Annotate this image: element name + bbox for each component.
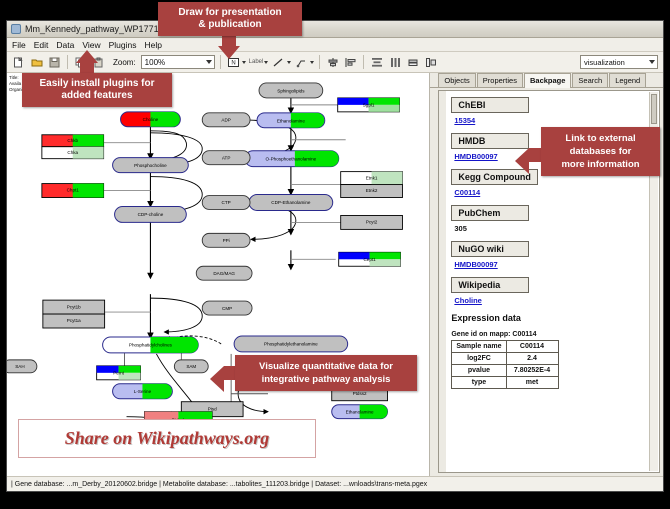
nugo-link[interactable]: HMDB00097 xyxy=(454,260,659,269)
same-width-icon[interactable] xyxy=(387,55,402,70)
node-ctp[interactable]: CTP xyxy=(202,196,250,210)
callout-draw-line1: Draw for presentation xyxy=(164,7,296,19)
row-value: met xyxy=(506,377,558,389)
row-label: log2FC xyxy=(452,353,506,365)
row-value: C00114 xyxy=(506,341,558,353)
pubchem-value: 305 xyxy=(454,224,659,233)
table-row: type met xyxy=(452,377,558,389)
row-value: 2.4 xyxy=(506,353,558,365)
node-label: Ethanolamine xyxy=(277,119,305,124)
gene-label: Etnk2 xyxy=(366,188,378,193)
gene-cept1[interactable]: Cept1 xyxy=(339,252,401,266)
node-choline-top[interactable]: Choline xyxy=(121,112,181,127)
callout-draw-line2: & publication xyxy=(164,19,296,31)
scrollbar-thumb[interactable] xyxy=(651,94,657,124)
node-label: Phosphocholine xyxy=(134,163,167,168)
row-label: type xyxy=(452,377,506,389)
node-label: Sphingolipids xyxy=(277,89,305,94)
node-sphingolipids[interactable]: Sphingolipids xyxy=(259,83,323,98)
node-label: SAM xyxy=(186,364,196,369)
hmdb-header: HMDB xyxy=(451,133,529,149)
callout-links-arrow-left xyxy=(515,148,529,174)
node-label: Choline xyxy=(143,117,159,122)
zoom-label: Zoom: xyxy=(113,58,136,67)
node-cdp-choline[interactable]: CDP-choline xyxy=(115,206,187,222)
callout-plugins-arrow-up xyxy=(76,50,98,63)
gene-label: Chkb xyxy=(67,138,78,143)
gene-etnk1[interactable]: Etnk1 xyxy=(341,172,403,185)
pathway-canvas[interactable]: Title: Availa Organi xyxy=(7,73,430,476)
gene-sgpl1[interactable]: Sgpl1 xyxy=(338,98,400,112)
line-icon[interactable] xyxy=(271,55,286,70)
gene-label: Chka xyxy=(67,150,78,155)
callout-links-line3: more information xyxy=(547,158,654,171)
node-ethanolamine-top[interactable]: Ethanolamine xyxy=(257,113,325,128)
gene-label: Pcyt2 xyxy=(366,220,378,225)
stack-icon[interactable] xyxy=(405,55,420,70)
gene-label: Chpt1 xyxy=(67,188,80,193)
distribute-vertical-icon[interactable] xyxy=(369,55,384,70)
gene-pcyt2[interactable]: Pcyt2 xyxy=(341,215,403,229)
zoom-combo[interactable]: 100% xyxy=(141,55,215,69)
menubar: File Edit Data View Plugins Help xyxy=(7,38,663,52)
node-label: L-Serine xyxy=(134,389,152,394)
node-label: DAG/MAG xyxy=(213,271,235,276)
group-icon[interactable] xyxy=(423,55,438,70)
gene-label: Pemt xyxy=(113,371,124,376)
row-label: pvalue xyxy=(452,365,506,377)
gene-chkb[interactable]: Chkb xyxy=(42,135,104,147)
node-label: O-Phosphoethanolamine xyxy=(266,156,317,161)
tab-search[interactable]: Search xyxy=(572,73,608,87)
menu-view[interactable]: View xyxy=(82,40,100,50)
chevron-down-icon xyxy=(264,61,268,64)
chevron-down-icon xyxy=(206,60,212,64)
gene-pcyt1b[interactable]: Pcyt1b xyxy=(43,300,105,314)
nugo-header: NuGO wiki xyxy=(451,241,529,257)
gene-label: Pcyt1b xyxy=(67,304,81,309)
callout-draw-arrow-down xyxy=(218,46,240,59)
tab-objects[interactable]: Objects xyxy=(438,73,475,87)
node-phosphocholine[interactable]: Phosphocholine xyxy=(113,158,189,173)
node-label: Phosphatidylcholines xyxy=(129,343,173,348)
node-label: SAH xyxy=(15,364,24,369)
menu-plugins[interactable]: Plugins xyxy=(109,40,137,50)
gene-label: Etnk1 xyxy=(366,175,378,180)
node-adp[interactable]: ADP xyxy=(202,113,250,127)
node-sah[interactable]: SAH xyxy=(7,360,37,373)
label-button[interactable]: Label xyxy=(249,59,264,65)
tab-backpage[interactable]: Backpage xyxy=(524,73,571,88)
open-folder-icon[interactable] xyxy=(29,55,44,70)
menu-help[interactable]: Help xyxy=(145,40,162,50)
node-label: Phosphatidylethanolamine xyxy=(264,342,318,347)
node-o-phosphoethanolamine[interactable]: O-Phosphoethanolamine xyxy=(245,151,339,167)
gene-label: Pcyt1a xyxy=(67,318,81,323)
node-label: ATP xyxy=(222,155,231,160)
gene-chka[interactable]: Chka xyxy=(42,147,104,159)
callout-plugins-line1: Easily install plugins for xyxy=(28,78,166,90)
callout-visualize-line1: Visualize quantitative data for xyxy=(241,360,411,373)
node-l-serine-left[interactable]: L-Serine xyxy=(113,384,173,399)
line-dropdown[interactable] xyxy=(271,55,291,70)
row-value: 7.80252E-4 xyxy=(506,365,558,377)
panel-tabs: Objects Properties Backpage Search Legen… xyxy=(430,73,663,88)
expression-data-title: Expression data xyxy=(451,313,659,323)
node-ppi[interactable]: PPi xyxy=(202,233,250,247)
chevron-down-icon xyxy=(649,60,655,64)
gene-etnk2[interactable]: Etnk2 xyxy=(341,185,403,198)
zoom-value: 100% xyxy=(145,58,165,67)
gene-pemt[interactable]: Pemt xyxy=(97,366,141,380)
expression-table: Sample name C00114 log2FC 2.4 pvalue 7.8… xyxy=(451,340,558,389)
toolbar-separator xyxy=(319,55,320,69)
node-phosphatidylcholines[interactable]: Phosphatidylcholines xyxy=(103,337,199,353)
table-row: Sample name C00114 xyxy=(452,341,558,353)
node-cmp[interactable]: CMP xyxy=(202,301,252,315)
svg-text:N: N xyxy=(231,60,235,66)
tab-legend[interactable]: Legend xyxy=(609,73,646,87)
toolbar-separator xyxy=(67,55,68,69)
callout-links-line2: databases for xyxy=(547,145,654,158)
toolbar-separator xyxy=(363,55,364,69)
gene-label: Ptdss2 xyxy=(353,391,367,396)
chevron-down-icon xyxy=(242,61,246,64)
callout-plugins: Easily install plugins for added feature… xyxy=(22,73,172,107)
chevron-down-icon xyxy=(310,61,314,64)
panel-left-gutter xyxy=(439,91,446,472)
interaction-dropdown[interactable] xyxy=(294,55,314,70)
row-label: Sample name xyxy=(452,341,506,353)
node-label: CTP xyxy=(222,200,231,205)
wikipedia-header: Wikipedia xyxy=(451,277,529,293)
gene-pcyt1a[interactable]: Pcyt1a xyxy=(43,314,105,328)
node-label: ADP xyxy=(221,118,230,123)
node-ethanolamine-bottom[interactable]: Ethanolamine xyxy=(332,405,388,419)
node-label: CMP xyxy=(222,306,232,311)
node-label: CDP-Ethanolamine xyxy=(271,200,311,205)
callout-visualize: Visualize quantitative data for integrat… xyxy=(235,355,417,391)
callout-plugins-line2: added features xyxy=(28,90,166,102)
interaction-icon[interactable] xyxy=(294,55,309,70)
callout-visualize-arrow-left xyxy=(210,366,224,392)
tab-properties[interactable]: Properties xyxy=(477,73,523,87)
callout-draw: Draw for presentation & publication xyxy=(158,2,302,36)
chevron-down-icon xyxy=(287,61,291,64)
menu-data[interactable]: Data xyxy=(56,40,74,50)
toolbar: Zoom: 100% N Label xyxy=(7,52,663,73)
gene-id-line: Gene id on mapp: C00114 xyxy=(451,331,659,338)
node-label: CDP-choline xyxy=(138,212,164,217)
new-document-icon[interactable] xyxy=(11,55,26,70)
pathway-diagram[interactable]: Sphingolipids Ethanolamine O-Phosphoetha… xyxy=(7,73,429,474)
callout-links: Link to external databases for more info… xyxy=(541,127,660,176)
wikipedia-link[interactable]: Choline xyxy=(454,296,659,305)
chebi-link[interactable]: 15354 xyxy=(454,116,659,125)
window-titlebar: Mm_Kennedy_pathway_WP1771_45176.gpml xyxy=(7,21,663,38)
statusbar-text: | Gene database: ...m_Derby_20120602.bri… xyxy=(11,481,427,488)
callout-visualize-line2: integrative pathway analysis xyxy=(241,373,411,386)
node-label: Ethanolamine xyxy=(346,409,374,414)
pathvisio-icon xyxy=(11,24,21,34)
menu-edit[interactable]: Edit xyxy=(34,40,49,50)
gene-label: Cept1 xyxy=(363,257,376,262)
screenshot-root: Mm_Kennedy_pathway_WP1771_45176.gpml Fil… xyxy=(0,0,670,509)
save-disk-icon[interactable] xyxy=(47,55,62,70)
align-center-icon[interactable] xyxy=(325,55,340,70)
node-atp[interactable]: ATP xyxy=(202,151,250,165)
node-label: PPi xyxy=(223,238,230,243)
menu-file[interactable]: File xyxy=(12,40,26,50)
gene-label: Pisd xyxy=(208,406,217,411)
label-dropdown[interactable]: Label xyxy=(249,59,269,65)
kegg-link[interactable]: C00114 xyxy=(454,188,659,197)
visualization-combo[interactable]: visualization xyxy=(580,55,658,69)
node-cdp-ethanolamine[interactable]: CDP-Ethanolamine xyxy=(249,195,333,211)
chebi-header: ChEBI xyxy=(451,97,529,113)
table-row: pvalue 7.80252E-4 xyxy=(452,365,558,377)
gene-label: Sgpl1 xyxy=(363,103,375,108)
align-left-icon[interactable] xyxy=(343,55,358,70)
statusbar: | Gene database: ...m_Derby_20120602.bri… xyxy=(7,476,663,491)
node-phosphatidylethanolamine[interactable]: Phosphatidylethanolamine xyxy=(234,336,348,352)
node-dag-mag[interactable]: DAG/MAG xyxy=(196,266,252,280)
table-row: log2FC 2.4 xyxy=(452,353,558,365)
node-sam[interactable]: SAM xyxy=(174,360,208,373)
gene-chpt1[interactable]: Chpt1 xyxy=(42,184,104,198)
callout-share-banner: Share on Wikipathways.org xyxy=(18,419,316,458)
share-banner-text: Share on Wikipathways.org xyxy=(65,428,270,449)
callout-links-line1: Link to external xyxy=(547,132,654,145)
visualization-value: visualization xyxy=(584,58,625,67)
pubchem-header: PubChem xyxy=(451,205,529,221)
